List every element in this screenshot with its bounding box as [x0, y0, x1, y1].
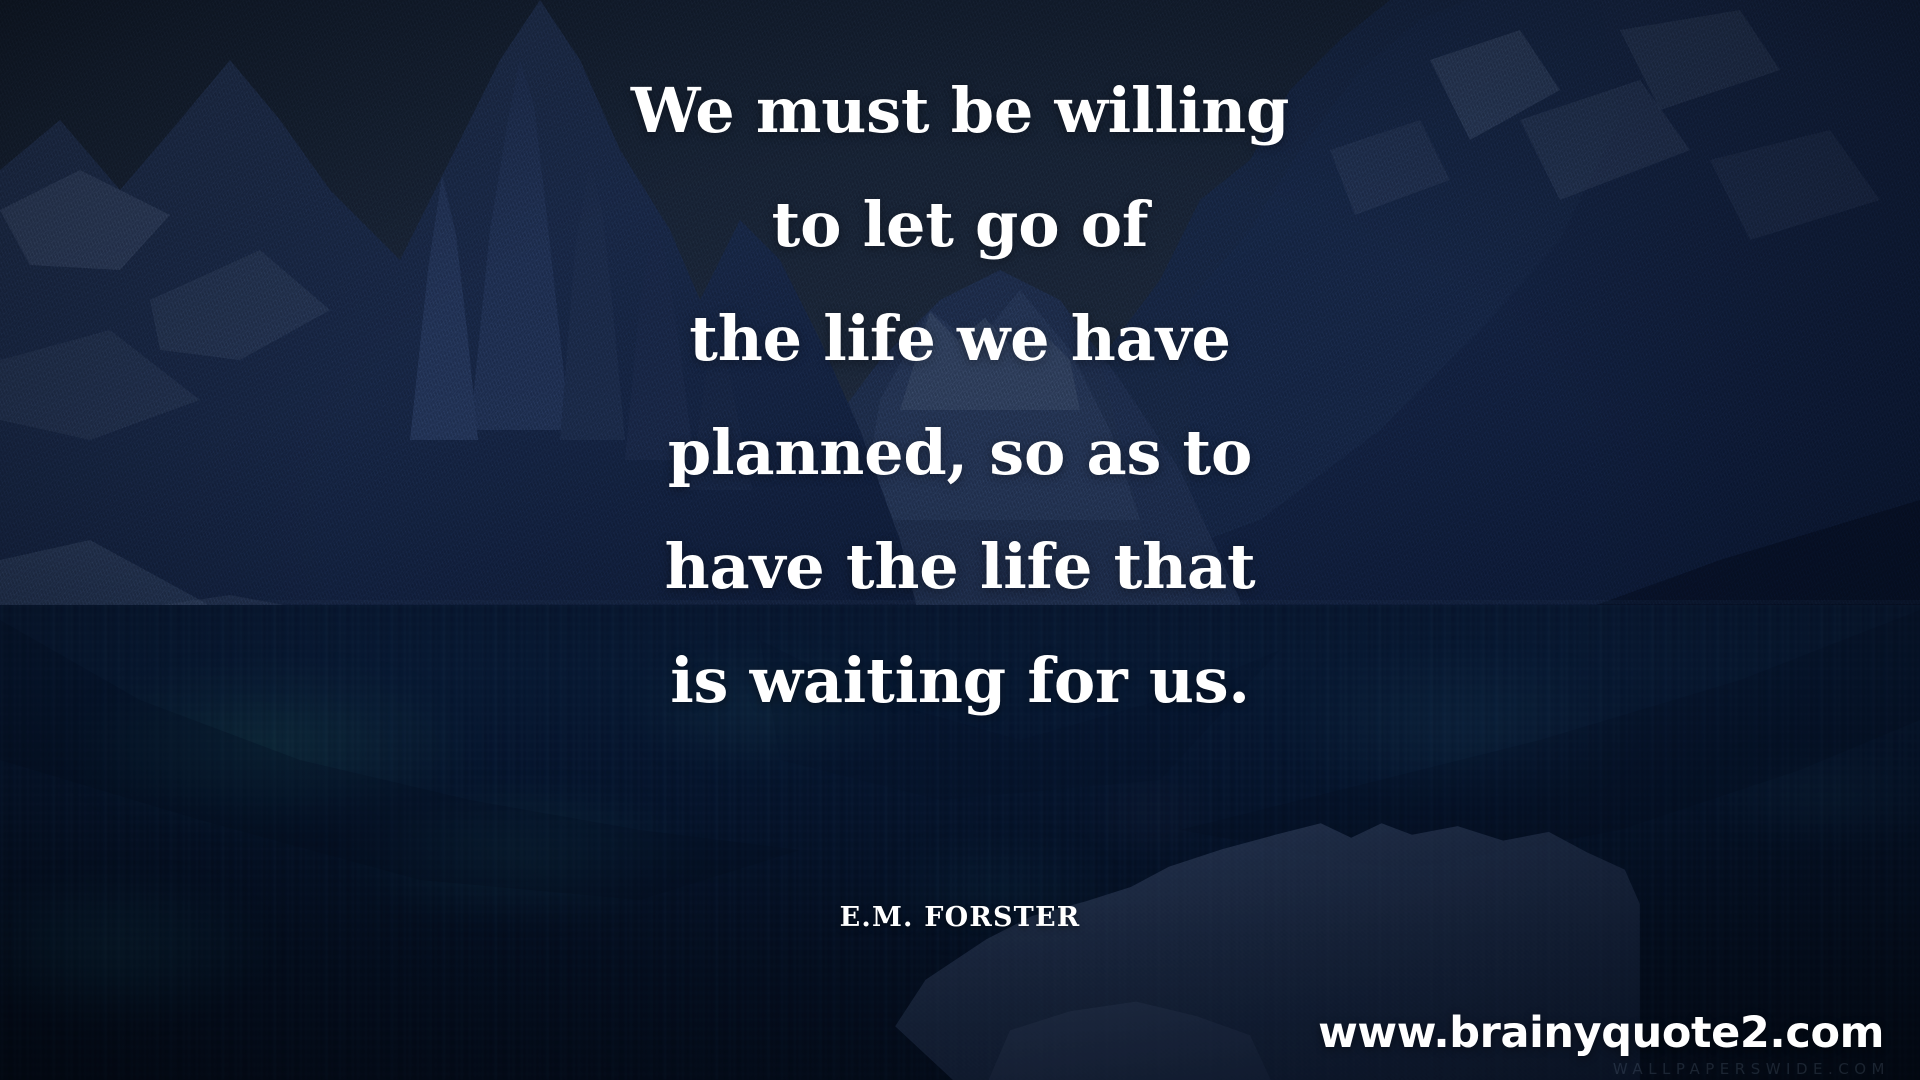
quote-line-6: is waiting for us. — [0, 624, 1920, 738]
quote-line-5: have the life that — [0, 510, 1920, 624]
quote-line-2: to let go of — [0, 168, 1920, 282]
quote-text: We must be willing to let go of the life… — [0, 54, 1920, 738]
text-overlay: We must be willing to let go of the life… — [0, 0, 1920, 1080]
quote-line-3: the life we have — [0, 282, 1920, 396]
source-watermark: WALLPAPERSWIDE.COM — [1613, 1060, 1890, 1078]
quote-line-4: planned, so as to — [0, 396, 1920, 510]
site-url[interactable]: www.brainyquote2.com — [1318, 1008, 1884, 1058]
quote-wallpaper: We must be willing to let go of the life… — [0, 0, 1920, 1080]
quote-line-1: We must be willing — [0, 54, 1920, 168]
quote-author: E.M. FORSTER — [0, 902, 1920, 933]
